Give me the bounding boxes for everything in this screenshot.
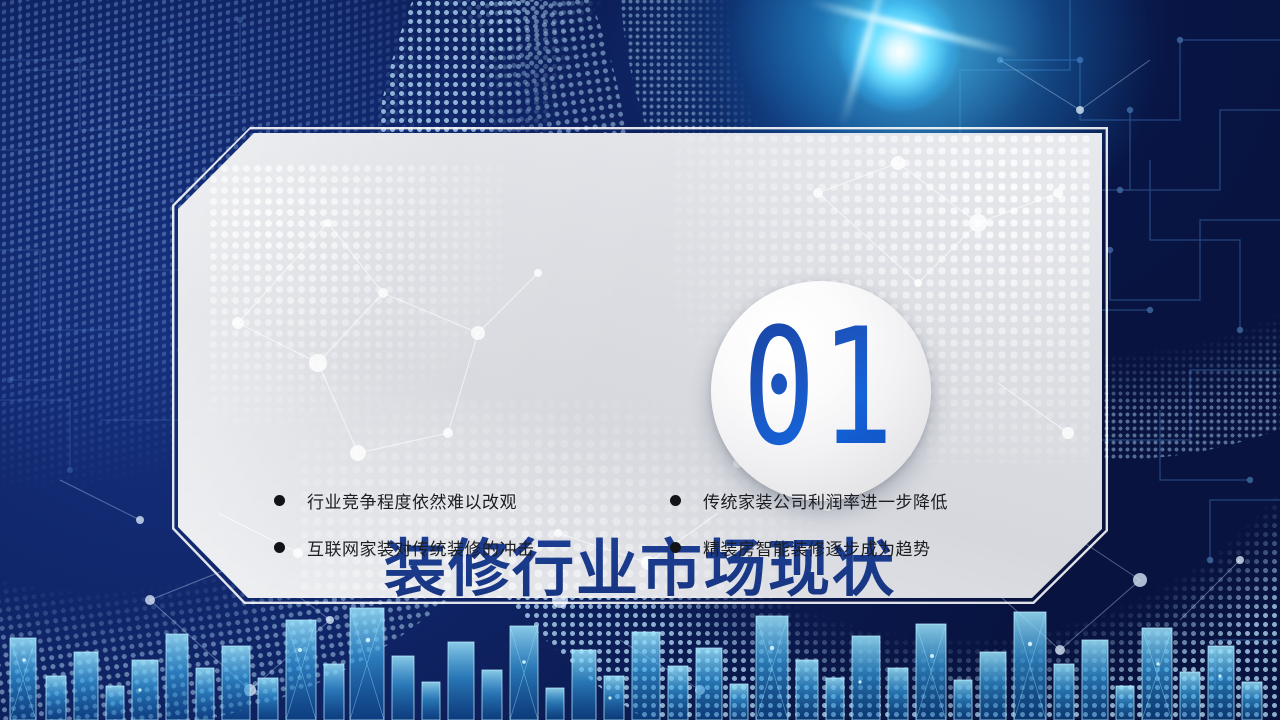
bullet-dot-icon: [274, 495, 285, 506]
bullet-dot-icon: [670, 542, 681, 553]
bullet-dot-icon: [274, 542, 285, 553]
presentation-slide: 01 装修行业市场现状 行业竞争程度依然难以改观 传统家装公司利润率进一步降低 …: [0, 0, 1280, 720]
bullet-list: 行业竞争程度依然难以改观 传统家装公司利润率进一步降低 互联网家装对传统装修的冲…: [274, 488, 1044, 560]
wireframe-city-icon: [0, 590, 1280, 720]
section-number-badge: 01: [711, 281, 931, 501]
list-item-label: 精装房智能装修逐步成为趋势: [703, 535, 931, 560]
list-item: 精装房智能装修逐步成为趋势: [670, 535, 1044, 560]
section-number-text: 01: [743, 307, 899, 474]
list-item-label: 互联网家装对传统装修的冲击: [307, 535, 535, 560]
list-item-label: 传统家装公司利润率进一步降低: [703, 488, 948, 513]
list-item: 互联网家装对传统装修的冲击: [274, 535, 648, 560]
list-item-label: 行业竞争程度依然难以改观: [307, 488, 517, 513]
list-item: 传统家装公司利润率进一步降低: [670, 488, 1044, 513]
bullet-dot-icon: [670, 495, 681, 506]
list-item: 行业竞争程度依然难以改观: [274, 488, 648, 513]
content-panel: 01 装修行业市场现状 行业竞争程度依然难以改观 传统家装公司利润率进一步降低 …: [178, 133, 1102, 598]
